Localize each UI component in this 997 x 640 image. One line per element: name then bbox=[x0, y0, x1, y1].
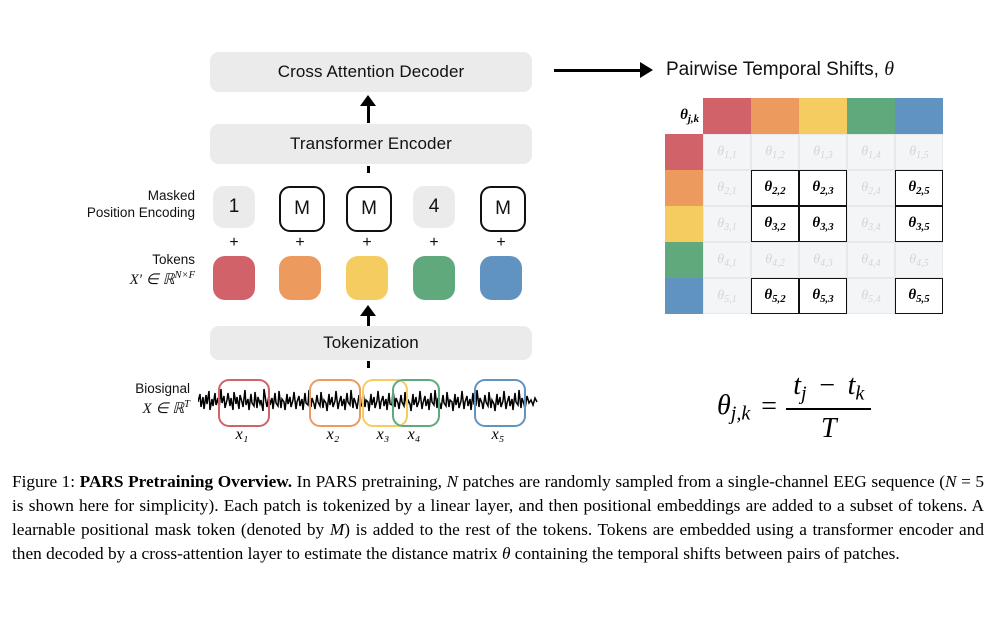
cell-sub: 1,4 bbox=[868, 149, 881, 160]
cell-sub: 2,4 bbox=[868, 185, 881, 196]
matrix-corner-label: θj,k bbox=[665, 98, 703, 134]
theta-symbol: θ bbox=[884, 58, 894, 80]
cell-theta: θ bbox=[908, 287, 916, 303]
matrix-col-swatch-3 bbox=[799, 98, 847, 134]
token-chip-5[interactable] bbox=[480, 256, 522, 300]
matrix-cell-2-2[interactable]: θ2,2 bbox=[751, 170, 799, 206]
caption-body-2: patches are randomly sampled from a sing… bbox=[458, 472, 945, 491]
position-encoding-box-2[interactable]: M bbox=[279, 186, 325, 232]
cell-sub: 2,3 bbox=[820, 185, 834, 197]
patch-box-1[interactable] bbox=[218, 379, 270, 427]
cell-theta: θ bbox=[908, 215, 916, 231]
matrix-cell-3-4[interactable]: θ3,4 bbox=[847, 206, 895, 242]
cell-sub: 1,5 bbox=[916, 149, 929, 160]
matrix-row: θ4,1 θ4,2 θ4,3 θ4,4 θ4,5 bbox=[665, 242, 943, 278]
patch-box-4[interactable] bbox=[392, 379, 440, 427]
matrix-row: θ3,1 θ3,2 θ3,3 θ3,4 θ3,5 bbox=[665, 206, 943, 242]
cell-theta: θ bbox=[908, 179, 916, 195]
patch-label-x2: x₂ bbox=[318, 426, 348, 444]
formula-tj-sub: j bbox=[801, 383, 807, 405]
patch-label-x3: x₃ bbox=[368, 426, 398, 444]
corner-sub: j,k bbox=[688, 113, 699, 125]
figure-caption: Figure 1: PARS Pretraining Overview. In … bbox=[12, 470, 984, 565]
patch-label-x1: x₁ bbox=[227, 426, 257, 444]
matrix-cell-1-5[interactable]: θ1,5 bbox=[895, 134, 943, 170]
formula-lhs-theta: θ bbox=[717, 390, 731, 421]
matrix-cell-1-1[interactable]: θ1,1 bbox=[703, 134, 751, 170]
tokenization-block: Tokenization bbox=[210, 326, 532, 360]
plus-sign-4: + bbox=[424, 234, 444, 252]
token-chip-3[interactable] bbox=[346, 256, 388, 300]
position-encoding-box-1[interactable]: 1 bbox=[213, 186, 255, 228]
tokens-dims-sup: N×F bbox=[174, 270, 195, 281]
cell-sub: 3,5 bbox=[916, 221, 930, 233]
arrow-encoder-to-decoder-head bbox=[360, 95, 376, 106]
position-encoding-box-3[interactable]: M bbox=[346, 186, 392, 232]
matrix-cell-5-4[interactable]: θ5,4 bbox=[847, 278, 895, 314]
pairwise-shift-matrix: θj,k θ1,1 θ1,2 θ1,3 θ1,4 θ1,5 θ2,1 θ2,2 … bbox=[665, 98, 943, 314]
caption-italic-n-2: N bbox=[945, 472, 957, 491]
matrix-cell-1-3[interactable]: θ1,3 bbox=[799, 134, 847, 170]
cell-sub: 3,1 bbox=[724, 221, 737, 232]
cell-sub: 5,1 bbox=[724, 293, 737, 304]
matrix-cell-5-2[interactable]: θ5,2 bbox=[751, 278, 799, 314]
matrix-col-swatch-4 bbox=[847, 98, 895, 134]
matrix-cell-2-1[interactable]: θ2,1 bbox=[703, 170, 751, 206]
tokens-label: Tokens X′ ∈ ℝN×F bbox=[40, 252, 195, 290]
matrix-cell-2-4[interactable]: θ2,4 bbox=[847, 170, 895, 206]
plus-sign-1: + bbox=[224, 234, 244, 252]
tokens-line1: Tokens bbox=[40, 252, 195, 269]
arrow-to-output-line bbox=[554, 69, 642, 72]
matrix-row: θ5,1 θ5,2 θ5,3 θ5,4 θ5,5 bbox=[665, 278, 943, 314]
masked-pos-line2: Position Encoding bbox=[30, 205, 195, 222]
pairwise-temporal-shifts-heading: Pairwise Temporal Shifts, θ bbox=[666, 58, 894, 81]
figure-diagram: Cross Attention Decoder Transformer Enco… bbox=[0, 0, 997, 460]
caption-prefix: Figure 1: bbox=[12, 472, 80, 491]
matrix-cell-4-2[interactable]: θ4,2 bbox=[751, 242, 799, 278]
cell-sub: 2,1 bbox=[724, 185, 737, 196]
masked-pos-line1: Masked bbox=[30, 188, 195, 205]
cell-sub: 4,2 bbox=[772, 257, 785, 268]
corner-theta: θ bbox=[680, 107, 688, 123]
token-chip-2[interactable] bbox=[279, 256, 321, 300]
cell-theta: θ bbox=[764, 179, 772, 195]
cell-sub: 5,5 bbox=[916, 293, 930, 305]
matrix-cell-3-3[interactable]: θ3,3 bbox=[799, 206, 847, 242]
matrix-row-swatch-3 bbox=[665, 206, 703, 242]
plus-sign-2: + bbox=[290, 234, 310, 252]
cell-sub: 2,2 bbox=[772, 185, 786, 197]
biosignal-dims: X ∈ ℝT bbox=[50, 398, 190, 419]
theta-formula: θj,k = tj − tk T bbox=[717, 370, 871, 445]
cell-sub: 1,3 bbox=[820, 149, 833, 160]
cell-sub: 1,2 bbox=[772, 149, 785, 160]
patch-box-2[interactable] bbox=[309, 379, 361, 427]
matrix-col-swatch-1 bbox=[703, 98, 751, 134]
cell-theta: θ bbox=[812, 179, 820, 195]
matrix-row-swatch-1 bbox=[665, 134, 703, 170]
formula-equals: = bbox=[759, 391, 778, 423]
dashed-signal-to-tokenization bbox=[367, 361, 370, 373]
caption-bold-title: PARS Pretraining Overview. bbox=[80, 472, 292, 491]
cell-theta: θ bbox=[764, 215, 772, 231]
matrix-cell-5-3[interactable]: θ5,3 bbox=[799, 278, 847, 314]
token-chip-4[interactable] bbox=[413, 256, 455, 300]
position-encoding-box-5[interactable]: M bbox=[480, 186, 526, 232]
cell-theta: θ bbox=[764, 287, 772, 303]
patch-label-x5: x₅ bbox=[483, 426, 513, 444]
cell-theta: θ bbox=[812, 287, 820, 303]
matrix-cell-5-1[interactable]: θ5,1 bbox=[703, 278, 751, 314]
plus-sign-5: + bbox=[491, 234, 511, 252]
matrix-cell-4-4[interactable]: θ4,4 bbox=[847, 242, 895, 278]
cell-sub: 4,5 bbox=[916, 257, 929, 268]
cell-sub: 2,5 bbox=[916, 185, 930, 197]
matrix-cell-1-4[interactable]: θ1,4 bbox=[847, 134, 895, 170]
matrix-row-swatch-4 bbox=[665, 242, 703, 278]
matrix-cell-3-5[interactable]: θ3,5 bbox=[895, 206, 943, 242]
position-encoding-box-4[interactable]: 4 bbox=[413, 186, 455, 228]
cell-theta: θ bbox=[812, 215, 820, 231]
cell-sub: 4,4 bbox=[868, 257, 881, 268]
matrix-cell-4-3[interactable]: θ4,3 bbox=[799, 242, 847, 278]
biosignal-dims-base: X ∈ ℝ bbox=[143, 401, 185, 417]
matrix-row: θ2,1 θ2,2 θ2,3 θ2,4 θ2,5 bbox=[665, 170, 943, 206]
cell-sub: 1,1 bbox=[724, 149, 737, 160]
caption-body-5: containing the temporal shifts between p… bbox=[510, 544, 899, 563]
dashed-tokens-to-encoder bbox=[367, 166, 370, 178]
cell-sub: 3,2 bbox=[772, 221, 786, 233]
transformer-encoder-block: Transformer Encoder bbox=[210, 124, 532, 164]
formula-lhs-sub: j,k bbox=[731, 402, 751, 424]
arrow-to-output-head bbox=[640, 62, 653, 78]
formula-tk-sub: k bbox=[855, 383, 864, 405]
matrix-cell-4-1[interactable]: θ4,1 bbox=[703, 242, 751, 278]
matrix-row-swatch-2 bbox=[665, 170, 703, 206]
plus-sign-3: + bbox=[357, 234, 377, 252]
tokens-dims-base: X′ ∈ ℝ bbox=[130, 272, 175, 288]
token-chip-1[interactable] bbox=[213, 256, 255, 300]
cell-sub: 4,3 bbox=[820, 257, 833, 268]
pairwise-heading-text: Pairwise Temporal Shifts, bbox=[666, 59, 884, 80]
arrow-encoder-to-decoder-line bbox=[367, 103, 370, 123]
formula-tj: t bbox=[793, 370, 801, 401]
formula-denominator: T bbox=[786, 408, 871, 445]
formula-lhs: θj,k bbox=[717, 390, 750, 426]
cross-attention-decoder-block: Cross Attention Decoder bbox=[210, 52, 532, 92]
matrix-row-swatch-5 bbox=[665, 278, 703, 314]
matrix-cell-5-5[interactable]: θ5,5 bbox=[895, 278, 943, 314]
cell-sub: 5,2 bbox=[772, 293, 786, 305]
caption-body-1: In PARS pretraining, bbox=[292, 472, 446, 491]
formula-fraction: tj − tk T bbox=[786, 370, 871, 445]
cell-sub: 5,3 bbox=[820, 293, 834, 305]
matrix-cell-2-5[interactable]: θ2,5 bbox=[895, 170, 943, 206]
patch-label-x4: x₄ bbox=[399, 426, 429, 444]
matrix-cell-4-5[interactable]: θ4,5 bbox=[895, 242, 943, 278]
arrow-tokenization-to-tokens-head bbox=[360, 305, 376, 316]
biosignal-dims-sup: T bbox=[184, 399, 190, 410]
cell-sub: 4,1 bbox=[724, 257, 737, 268]
cell-sub: 3,3 bbox=[820, 221, 834, 233]
cell-sub: 5,4 bbox=[868, 293, 881, 304]
biosignal-line1: Biosignal bbox=[50, 381, 190, 398]
matrix-cell-3-1[interactable]: θ3,1 bbox=[703, 206, 751, 242]
tokens-dims: X′ ∈ ℝN×F bbox=[40, 269, 195, 290]
caption-italic-n-1: N bbox=[447, 472, 459, 491]
matrix-cell-2-3[interactable]: θ2,3 bbox=[799, 170, 847, 206]
caption-italic-m: M bbox=[330, 520, 344, 539]
matrix-col-swatch-5 bbox=[895, 98, 943, 134]
masked-position-encoding-label: Masked Position Encoding bbox=[30, 188, 195, 222]
matrix-cell-3-2[interactable]: θ3,2 bbox=[751, 206, 799, 242]
biosignal-label: Biosignal X ∈ ℝT bbox=[50, 381, 190, 419]
formula-minus: − bbox=[818, 370, 837, 401]
matrix-row: θ1,1 θ1,2 θ1,3 θ1,4 θ1,5 bbox=[665, 134, 943, 170]
matrix-cell-1-2[interactable]: θ1,2 bbox=[751, 134, 799, 170]
patch-box-5[interactable] bbox=[474, 379, 526, 427]
formula-numerator: tj − tk bbox=[786, 370, 871, 408]
cell-sub: 3,4 bbox=[868, 221, 881, 232]
matrix-header-row: θj,k bbox=[665, 98, 943, 134]
matrix-col-swatch-2 bbox=[751, 98, 799, 134]
